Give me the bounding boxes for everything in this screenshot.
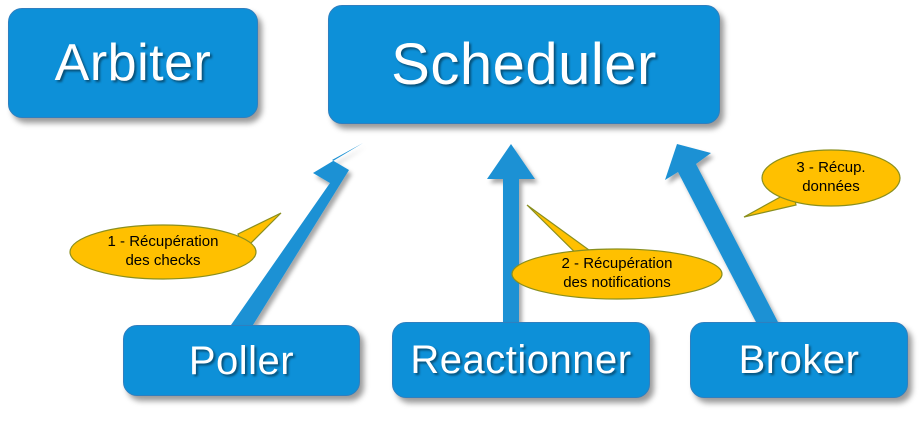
callout-layer (0, 0, 922, 429)
diagram-canvas: 1 - Récupération des checks 2 - Récupéra… (0, 0, 922, 429)
callout-2-bubble (512, 205, 722, 299)
callout-1-bubble (70, 213, 281, 279)
callout-3-bubble (744, 150, 900, 217)
